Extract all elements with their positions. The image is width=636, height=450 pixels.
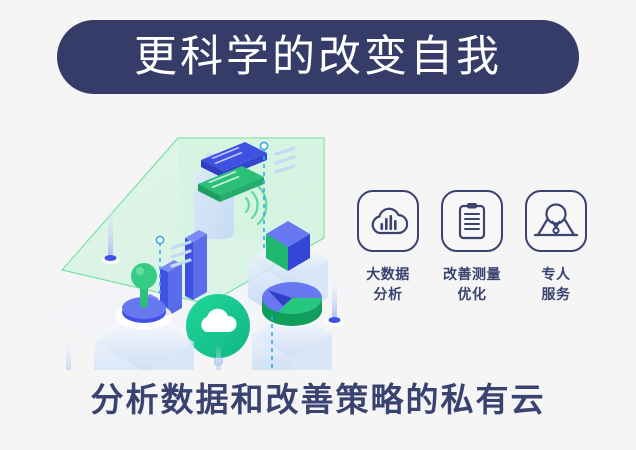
isometric-illustration xyxy=(40,120,360,370)
cloud-bar-chart-icon-box xyxy=(357,190,419,252)
feature-label-big-data: 大数据 分析 xyxy=(366,264,410,305)
pie-chart-3d xyxy=(262,282,322,326)
feature-label-service: 专人 服务 xyxy=(542,264,571,305)
page-title: 更科学的改变自我 xyxy=(134,36,502,79)
header-banner-pill: 更科学的改变自我 xyxy=(57,20,579,94)
cloud-bar-chart-icon xyxy=(368,204,408,238)
clipboard-icon xyxy=(455,201,489,241)
clipboard-icon-box xyxy=(441,190,503,252)
bar-3 xyxy=(185,230,207,300)
person-service-icon-box xyxy=(525,190,587,252)
person-service-icon xyxy=(534,201,578,241)
feature-item-big-data[interactable]: 大数据 分析 xyxy=(352,190,424,305)
promo-banner: 更科学的改变自我 xyxy=(0,0,636,450)
footer-tagline: 分析数据和改善策略的私有云 xyxy=(0,382,636,418)
feature-item-service[interactable]: 专人 服务 xyxy=(520,190,592,305)
feature-item-measurement[interactable]: 改善测量 优化 xyxy=(436,190,508,305)
gauge-stem-left xyxy=(59,326,79,370)
feature-list: 大数据 分析 改善测量 优化 xyxy=(352,190,592,305)
feature-label-measurement: 改善测量 优化 xyxy=(443,264,501,305)
